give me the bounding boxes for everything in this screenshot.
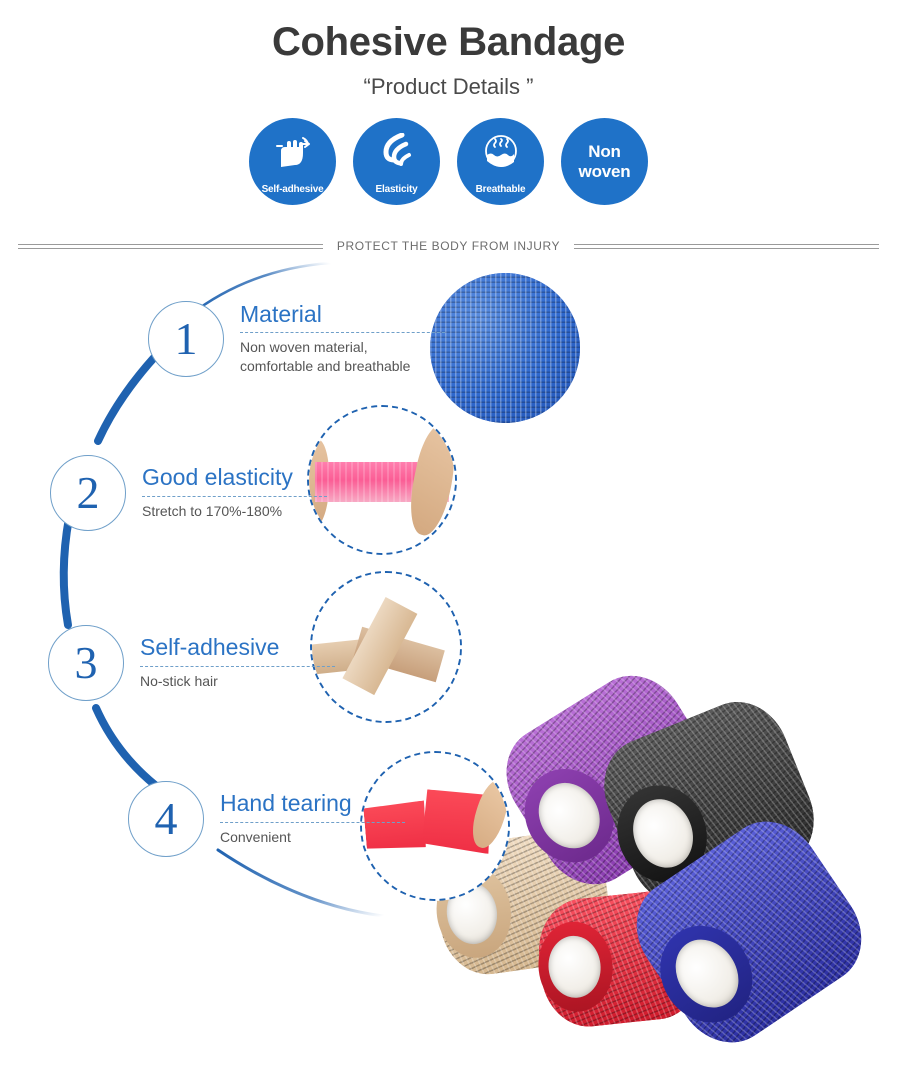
- feature-text-block: Good elasticity Stretch to 170%-180%: [142, 465, 327, 520]
- feature-text-block: Self-adhesive No-stick hair: [140, 635, 335, 690]
- hand-adhesive-icon: [249, 118, 336, 185]
- elastic-wave-icon: [353, 118, 440, 185]
- feature-number: 3: [75, 640, 98, 686]
- feature-divider-dash: [140, 666, 335, 667]
- feature-photo-1[interactable]: [430, 273, 580, 423]
- section-divider: PROTECT THE BODY FROM INJURY: [0, 239, 897, 253]
- badge-elasticity[interactable]: Elasticity: [353, 118, 440, 205]
- feature-number-badge: 4: [128, 781, 204, 857]
- breathable-water-icon: [457, 118, 544, 185]
- pink-stretched-bandage: [309, 407, 455, 553]
- feature-title: Self-adhesive: [140, 635, 335, 660]
- divider-rule-right: [574, 244, 879, 249]
- feature-item-3[interactable]: 3 Self-adhesive No-stick hair: [48, 625, 335, 701]
- feature-number-badge: 3: [48, 625, 124, 701]
- blue-woven-texture: [430, 273, 580, 423]
- feature-text-block: Material Non woven material, comfortable…: [240, 302, 445, 376]
- feature-item-1[interactable]: 1 Material Non woven material, comfortab…: [148, 301, 445, 377]
- badge-label: Elasticity: [376, 185, 418, 196]
- feature-desc-line-2: comfortable and breathable: [240, 357, 445, 376]
- feature-photo-2[interactable]: [307, 405, 457, 555]
- feature-desc-line-1: Convenient: [220, 828, 405, 847]
- feature-badge-row: Self-adhesive Elasticity Breathable Non …: [0, 118, 897, 205]
- page-header: Cohesive Bandage “Product Details ”: [0, 0, 897, 100]
- feature-desc-line-1: Stretch to 170%-180%: [142, 502, 327, 521]
- badge-breathable[interactable]: Breathable: [457, 118, 544, 205]
- feature-number: 1: [175, 316, 198, 362]
- feature-item-4[interactable]: 4 Hand tearing Convenient: [128, 781, 405, 857]
- feature-divider-dash: [220, 822, 405, 823]
- badge-label: Self-adhesive: [262, 185, 324, 196]
- feature-title: Hand tearing: [220, 791, 405, 816]
- page-title: Cohesive Bandage: [0, 18, 897, 66]
- divider-rule-left: [18, 244, 323, 249]
- feature-text-block: Hand tearing Convenient: [220, 791, 405, 846]
- feature-number-badge: 2: [50, 455, 126, 531]
- feature-divider-dash: [142, 496, 327, 497]
- feature-number: 4: [155, 796, 178, 842]
- badge-label: Non woven: [561, 142, 648, 181]
- feature-divider-dash: [240, 332, 445, 333]
- feature-title: Good elasticity: [142, 465, 327, 490]
- badge-self-adhesive[interactable]: Self-adhesive: [249, 118, 336, 205]
- feature-number-badge: 1: [148, 301, 224, 377]
- feature-number: 2: [77, 470, 100, 516]
- badge-non-woven[interactable]: Non woven: [561, 118, 648, 205]
- divider-text: PROTECT THE BODY FROM INJURY: [323, 239, 574, 253]
- features-stage: 1 Material Non woven material, comfortab…: [0, 253, 897, 953]
- badge-label: Breathable: [476, 185, 526, 196]
- feature-desc-line-1: No-stick hair: [140, 672, 335, 691]
- feature-desc-line-1: Non woven material,: [240, 338, 445, 357]
- page-subtitle: “Product Details ”: [0, 74, 897, 100]
- feature-item-2[interactable]: 2 Good elasticity Stretch to 170%-180%: [50, 455, 327, 531]
- feature-title: Material: [240, 302, 445, 327]
